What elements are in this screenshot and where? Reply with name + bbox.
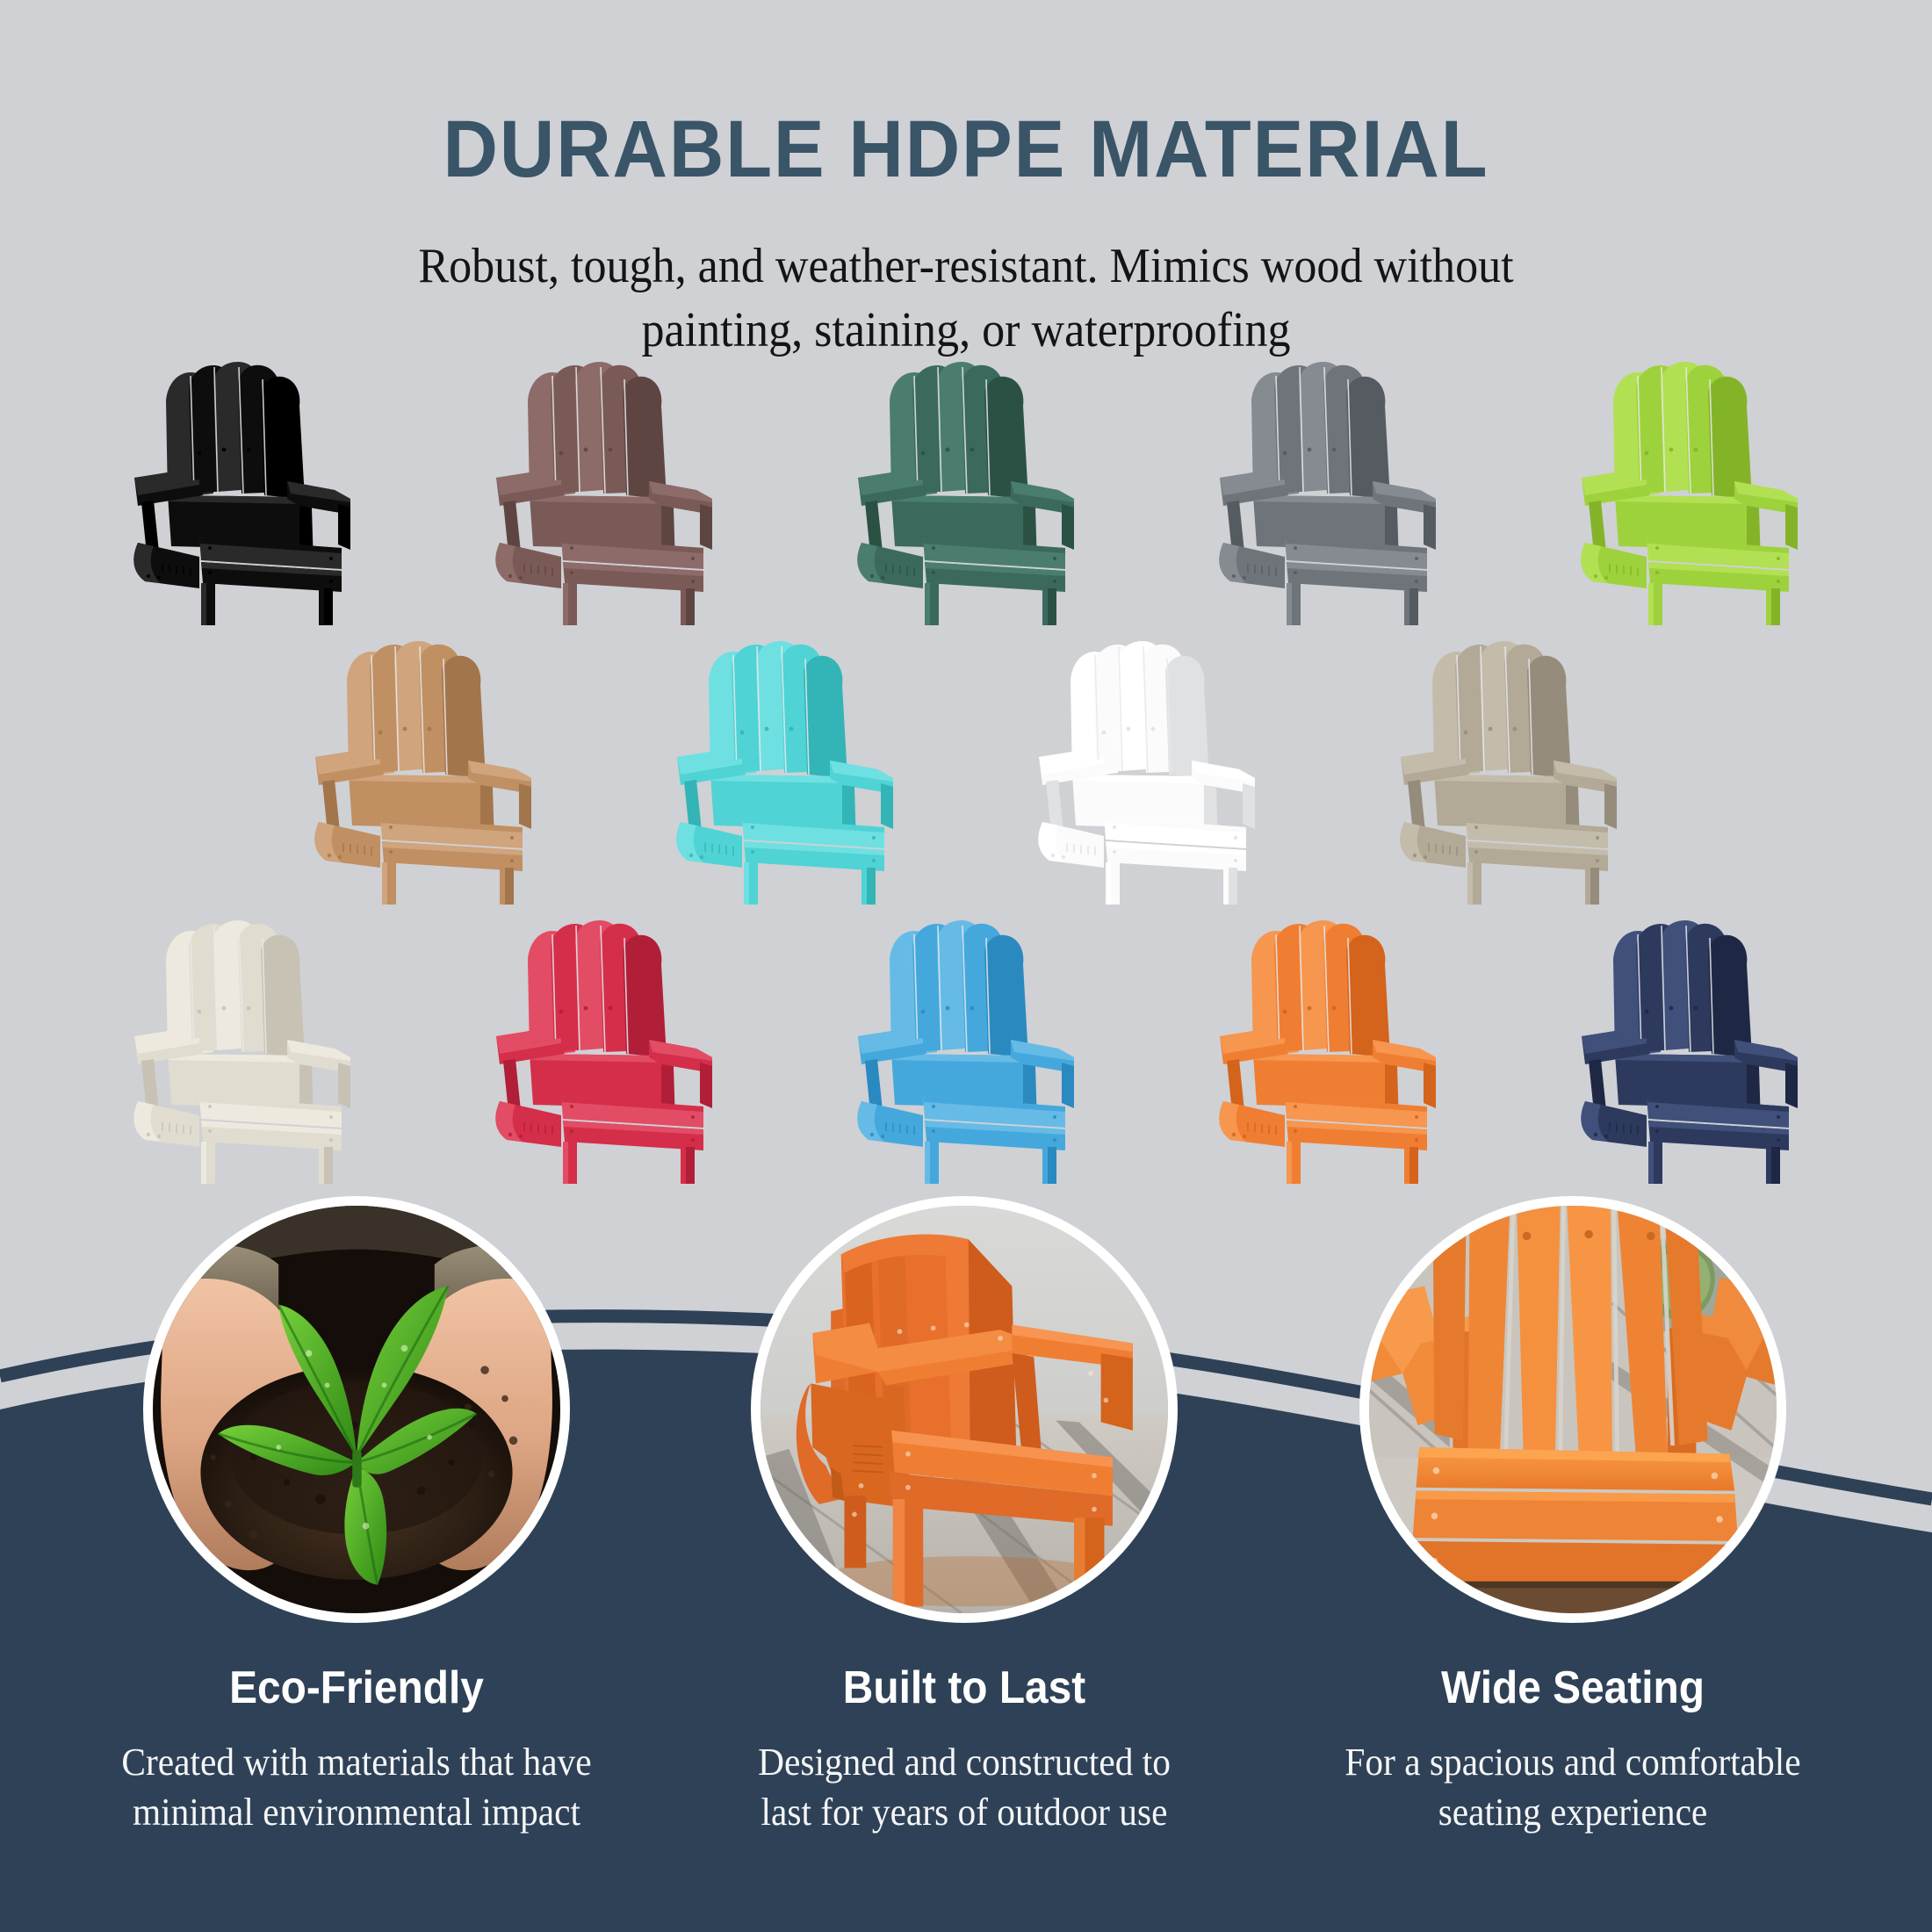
feature-caption-wide-seating: Wide Seating For a spacious and comforta… — [1265, 1662, 1880, 1837]
page-title: DURABLE HDPE MATERIAL — [58, 104, 1874, 196]
chair-row-2 — [0, 641, 1932, 905]
subtitle-line-1: Robust, tough, and weather-resistant. Mi… — [68, 234, 1864, 299]
feature-description: Created with materials that have minimal… — [68, 1737, 645, 1837]
chair-swatch-dark-green[interactable] — [839, 362, 1093, 625]
feature-description: For a spacious and comfortable seating e… — [1284, 1737, 1862, 1837]
feature-image-wide-seating — [1359, 1196, 1786, 1623]
feature-image-built-to-last — [751, 1196, 1178, 1623]
chair-row-3 — [0, 920, 1932, 1184]
feature-description-line-1: Designed and constructed to — [675, 1737, 1253, 1787]
chair-swatch-ivory[interactable] — [115, 920, 370, 1184]
feature-description-line-1: For a spacious and comfortable — [1284, 1737, 1862, 1787]
orange-adirondack-chair-patio-photo — [761, 1206, 1168, 1613]
chair-row-1 — [0, 362, 1932, 625]
header: DURABLE HDPE MATERIAL Robust, tough, and… — [0, 0, 1932, 363]
feature-image-eco-friendly — [143, 1196, 570, 1623]
chair-swatch-navy-blue[interactable] — [1562, 920, 1817, 1184]
feature-title: Wide Seating — [1290, 1662, 1856, 1714]
chair-swatch-light-blue[interactable] — [839, 920, 1093, 1184]
hands-holding-seedling-photo — [153, 1206, 560, 1613]
feature-description-line-2: seating experience — [1284, 1787, 1862, 1837]
chair-swatch-brown[interactable] — [477, 362, 732, 625]
chair-swatch-white[interactable] — [1020, 641, 1274, 905]
chair-swatch-black[interactable] — [115, 362, 370, 625]
chair-swatch-red[interactable] — [477, 920, 732, 1184]
chair-swatch-khaki[interactable] — [1381, 641, 1636, 905]
chair-swatch-orange[interactable] — [1200, 920, 1455, 1184]
chair-swatch-gray[interactable] — [1200, 362, 1455, 625]
page-subtitle: Robust, tough, and weather-resistant. Mi… — [68, 234, 1864, 363]
orange-chair-wide-seat-closeup-photo — [1369, 1206, 1777, 1613]
feature-caption-eco-friendly: Eco-Friendly Created with materials that… — [49, 1662, 664, 1837]
feature-caption-built-to-last: Built to Last Designed and constructed t… — [657, 1662, 1272, 1837]
feature-description-line-2: last for years of outdoor use — [675, 1787, 1253, 1837]
chair-color-grid — [0, 362, 1932, 1205]
chair-swatch-lime-green[interactable] — [1562, 362, 1817, 625]
feature-description-line-1: Created with materials that have — [68, 1737, 645, 1787]
feature-title: Built to Last — [681, 1662, 1247, 1714]
subtitle-line-2: painting, staining, or waterproofing — [68, 299, 1864, 363]
feature-title: Eco-Friendly — [74, 1662, 639, 1714]
feature-description-line-2: minimal environmental impact — [68, 1787, 645, 1837]
feature-description: Designed and constructed to last for yea… — [675, 1737, 1253, 1837]
chair-swatch-tan[interactable] — [296, 641, 551, 905]
chair-swatch-turquoise[interactable] — [658, 641, 912, 905]
